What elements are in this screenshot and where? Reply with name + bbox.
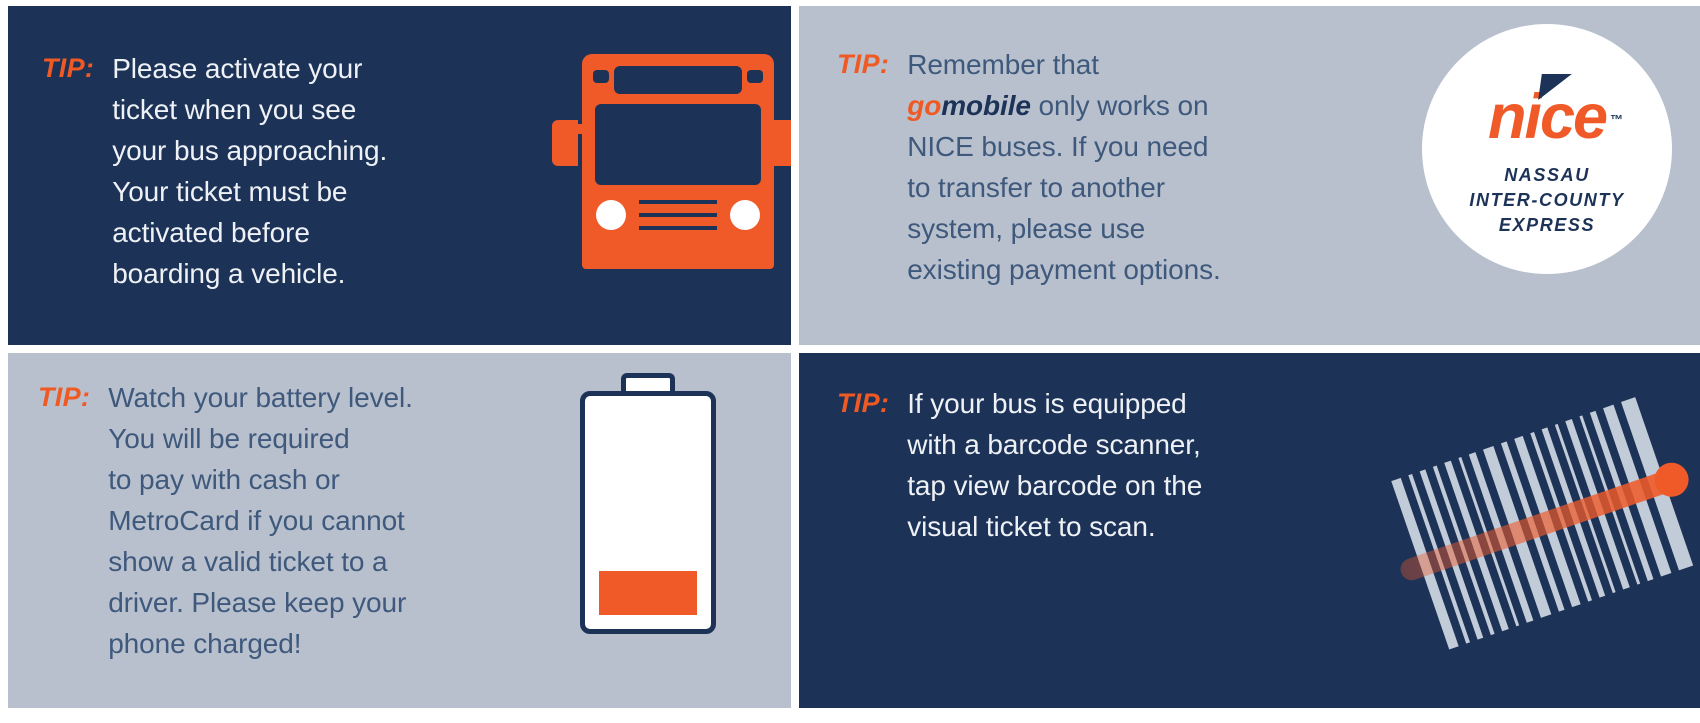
tip-body: If your bus is equipped with a barcode s… [907,383,1297,547]
tip-line: Watch your battery level. [108,377,508,418]
tip-card-battery-level: TIP: Watch your battery level. You will … [8,353,791,708]
bus-mirror-right-icon [772,120,791,166]
bus-grille-line-icon [639,200,717,204]
tip-line: show a valid ticket to a [108,541,508,582]
bus-headlight-right-icon [730,200,760,230]
bus-marker-light-left-icon [593,70,609,83]
tip-art-area [508,353,791,708]
tip-text-block: TIP: Watch your battery level. You will … [8,353,508,664]
logo-subtitle-line: EXPRESS [1422,213,1672,238]
tip-card-gomobile-nice-only: TIP: Remember that gomobile only works o… [799,6,1700,345]
tip-label: TIP: [42,48,94,89]
tip-line: visual ticket to scan. [907,506,1297,547]
logo-subtitle-line: INTER-COUNTY [1422,188,1672,213]
tip-line: to pay with cash or [108,459,508,500]
bus-grille-line-icon [639,226,717,230]
tip-line: existing payment options. [907,249,1307,290]
nice-logo: nice ™ NASSAU INTER-COUNTY EXPRESS [1422,24,1672,274]
tip-line: boarding a vehicle. [112,253,482,294]
tip-line: If your bus is equipped [907,383,1297,424]
gomobile-rest-text: only works on [1031,90,1209,121]
logo-content: nice ™ NASSAU INTER-COUNTY EXPRESS [1422,86,1672,238]
logo-subtitle-line: NASSAU [1422,163,1672,188]
logo-wordmark: nice ™ [1488,86,1606,149]
tip-line: with a barcode scanner, [907,424,1297,465]
tip-line: phone charged! [108,623,508,664]
battery-icon [536,373,791,643]
tip-card-activate-ticket: TIP: Please activate your ticket when yo… [8,6,791,345]
bus-marker-light-right-icon [747,70,763,83]
tip-line: Please activate your [112,48,482,89]
logo-trademark-symbol: ™ [1610,88,1623,151]
battery-shell-icon [580,391,716,634]
bus-body-icon [582,54,774,269]
tip-art-area [482,6,791,345]
tip-text-block: TIP: If your bus is equipped with a barc… [799,353,1297,547]
tip-body: Please activate your ticket when you see… [112,48,482,294]
bus-headlight-left-icon [596,200,626,230]
bus-windshield-icon [595,104,761,185]
tip-label: TIP: [837,383,889,424]
tip-art-area [1297,353,1700,708]
bus-destination-sign-icon [614,66,742,94]
tip-line: NICE buses. If you need [907,126,1307,167]
battery-charge-level-bar [599,571,697,615]
gomobile-go-text: go [907,90,941,121]
tip-line: to transfer to another [907,167,1307,208]
tip-line: Remember that [907,44,1307,85]
tip-line: MetroCard if you cannot [108,500,508,541]
tip-line: ticket when you see [112,89,482,130]
tip-line: tap view barcode on the [907,465,1297,506]
bus-grille-line-icon [639,213,717,217]
tip-text-block: TIP: Remember that gomobile only works o… [799,6,1307,290]
tip-line: You will be required [108,418,508,459]
bus-mirror-left-icon [552,120,578,166]
tip-line: driver. Please keep your [108,582,508,623]
bus-icon [530,36,791,296]
logo-triangle-accent-icon [1538,74,1572,100]
tip-body: Remember that gomobile only works on NIC… [907,44,1307,290]
barcode-scan-icon [1385,395,1700,660]
tips-grid: TIP: Please activate your ticket when yo… [0,0,1700,723]
tip-line: Your ticket must be [112,171,482,212]
tip-art-area: nice ™ NASSAU INTER-COUNTY EXPRESS [1307,6,1700,345]
gomobile-mobile-text: mobile [941,90,1031,121]
tip-label: TIP: [38,377,90,418]
logo-subtitle: NASSAU INTER-COUNTY EXPRESS [1422,163,1672,238]
tip-body: Watch your battery level. You will be re… [108,377,508,664]
tip-text-block: TIP: Please activate your ticket when yo… [8,6,482,294]
tip-line: activated before [112,212,482,253]
tip-label: TIP: [837,44,889,85]
tip-line: system, please use [907,208,1307,249]
tip-line-gomobile: gomobile only works on [907,85,1307,126]
tip-line: your bus approaching. [112,130,482,171]
tip-card-barcode-scanner: TIP: If your bus is equipped with a barc… [799,353,1700,708]
